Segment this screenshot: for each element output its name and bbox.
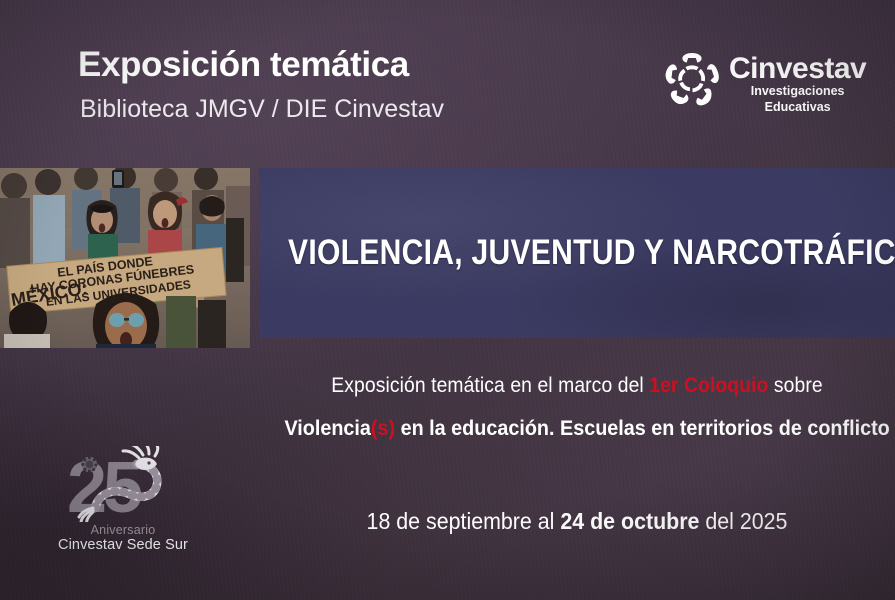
page-subtitle: Biblioteca JMGV / DIE Cinvestav: [80, 96, 444, 124]
body-copy: Exposición temática en el marco del 1er …: [259, 372, 895, 443]
cinvestav-name: Cinvestav: [729, 52, 866, 85]
cinvestav-sub-line-2: Educativas: [729, 100, 866, 116]
date-prefix: 18 de septiembre al: [367, 508, 561, 534]
colloquium-line: Exposición temática en el marco del 1er …: [284, 372, 869, 399]
colloquium-prefix: Exposición temática en el marco del: [331, 374, 649, 397]
subject-part-2: en la educación. Escuelas en territorios…: [395, 416, 890, 440]
colloquium-suffix: sobre: [768, 374, 822, 397]
colloquium-subject-line: Violencia(s) en la educación. Escuelas e…: [284, 415, 869, 443]
anniversary-logo: 25: [48, 446, 198, 555]
date-range: 18 de septiembre al 24 de octubre del 20…: [281, 508, 872, 535]
feathered-serpent-25-icon: 25: [48, 446, 198, 522]
poster-canvas: Exposición temática Biblioteca JMGV / DI…: [0, 0, 895, 600]
cinvestav-logo-text: Cinvestav Investigaciones Educativas: [729, 52, 866, 115]
page-title: Exposición temática: [78, 47, 409, 84]
colloquium-accent: 1er Coloquio: [649, 374, 768, 397]
anniversary-word: Aniversario: [48, 523, 198, 537]
svg-text:25: 25: [67, 448, 142, 522]
main-title: VIOLENCIA, JUVENTUD Y NARCOTRÁFICO: [288, 233, 895, 273]
anniversary-campus: Cinvestav Sede Sur: [48, 537, 198, 554]
cinvestav-sub-line-1: Investigaciones: [729, 84, 866, 100]
date-suffix: del 2025: [699, 508, 787, 534]
protest-photo: EL PAÍS DONDE HAY CORONAS FÚNEBRES EN LA…: [0, 168, 250, 348]
subject-part-1: Violencia: [284, 416, 370, 440]
date-bold: 24 de octubre: [560, 508, 699, 534]
subject-accent: (s): [371, 416, 395, 440]
cinvestav-ring-emblem-icon: [664, 52, 720, 108]
main-title-band: VIOLENCIA, JUVENTUD Y NARCOTRÁFICO: [259, 168, 895, 338]
cinvestav-logo: Cinvestav Investigaciones Educativas: [664, 52, 866, 115]
